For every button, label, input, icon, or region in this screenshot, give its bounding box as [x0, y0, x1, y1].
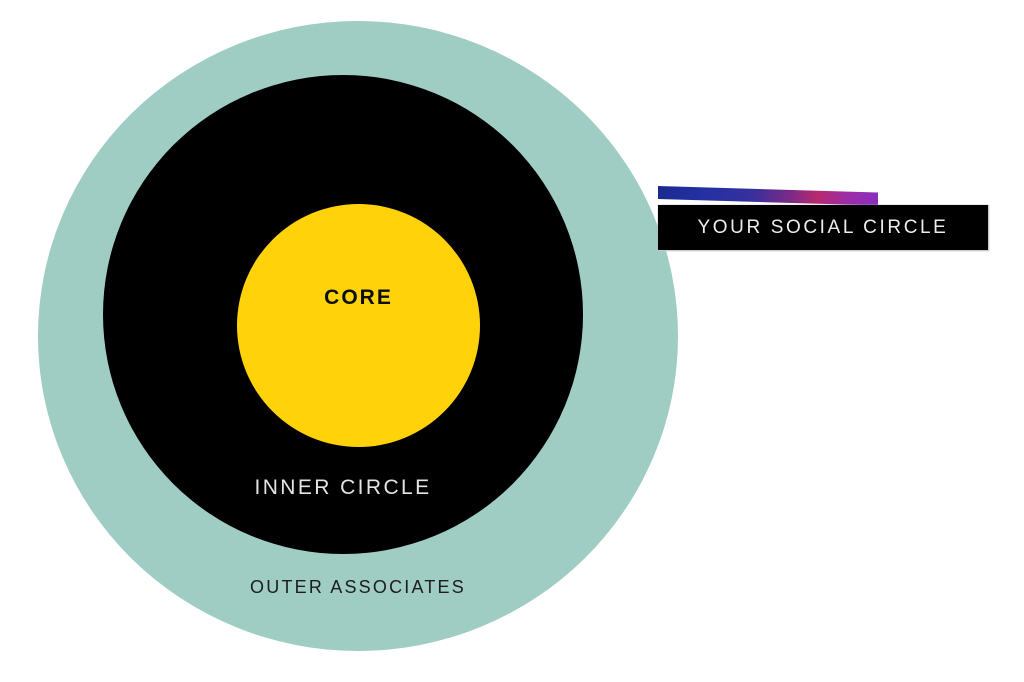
core-circle[interactable]: [237, 204, 480, 447]
diagram-canvas: OUTER ASSOCIATES INNER CIRCLE CORE YOUR …: [0, 0, 1024, 682]
gradient-accent-bar: [658, 186, 878, 206]
outer-associates-label: OUTER ASSOCIATES: [38, 577, 678, 598]
inner-circle-label: INNER CIRCLE: [103, 476, 583, 500]
callout-box: YOUR SOCIAL CIRCLE: [658, 205, 989, 251]
callout-title: YOUR SOCIAL CIRCLE: [658, 205, 988, 250]
social-circle-callout: YOUR SOCIAL CIRCLE: [655, 183, 995, 263]
core-label: CORE: [237, 286, 480, 310]
